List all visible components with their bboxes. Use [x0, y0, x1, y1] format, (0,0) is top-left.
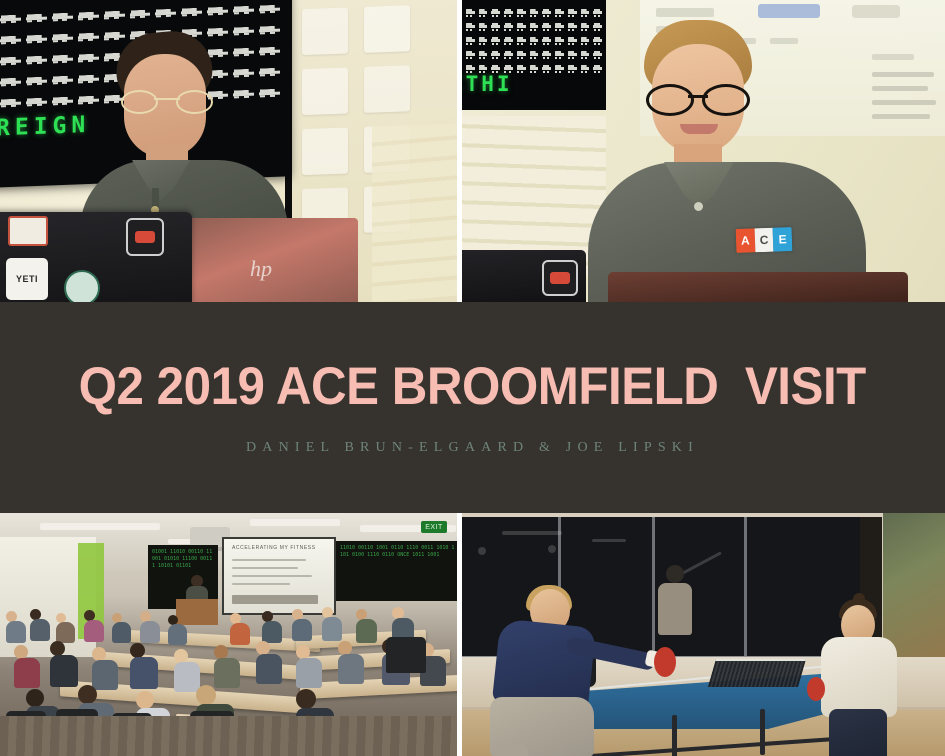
invader-sprite [466, 8, 475, 19]
invader-sprite [0, 56, 21, 68]
sticker-yeti: YETI [6, 258, 48, 300]
sticker-code-icon [542, 260, 578, 296]
invader-sprite [479, 22, 488, 33]
attendee [112, 613, 131, 643]
collar [132, 160, 190, 200]
photo-top-left: REIGN A C E [0, 0, 457, 302]
player-background [813, 605, 905, 756]
attendee [92, 647, 118, 690]
invader-sprite [530, 36, 539, 47]
invader-sprite [181, 7, 202, 19]
mouth [680, 124, 718, 134]
dashboard-filter[interactable] [852, 5, 900, 18]
chair [386, 637, 426, 673]
window-mullion [744, 517, 747, 657]
app-icon [302, 67, 348, 115]
invader-sprite [491, 22, 500, 33]
invader-sprite [466, 22, 475, 33]
invader-sprite [52, 33, 73, 45]
dashboard-row [872, 86, 928, 91]
laptop-hp: hp [178, 218, 358, 302]
attendee [230, 613, 250, 645]
invader-sprite [593, 8, 602, 19]
led-board-right: 11010 00110 1001 0110 1110 0011 1010 110… [336, 541, 457, 601]
background-person [658, 565, 692, 637]
window-reflection [592, 539, 626, 542]
invader-sprite [504, 8, 513, 19]
invader-sprite [0, 14, 21, 26]
invader-sprite [78, 11, 99, 23]
attendee [292, 609, 312, 641]
jeans [829, 709, 887, 756]
invader-sprite [491, 50, 500, 61]
led-code-text: 11010 00110 1001 0110 1110 0011 1010 110… [340, 545, 456, 597]
app-icon [302, 7, 348, 55]
invader-sprite [466, 36, 475, 47]
person-portrait-right: A C E [602, 20, 852, 302]
invader-sprite [530, 22, 539, 33]
attendee [130, 643, 158, 689]
slide-line [232, 567, 298, 569]
eyeglasses-icon [121, 90, 213, 110]
ceiling-light-reflection [548, 545, 556, 553]
hp-logo: hp [250, 256, 272, 282]
laptop-right [608, 272, 908, 302]
invader-sprite [593, 50, 602, 61]
invader-sprite [479, 36, 488, 47]
invader-sprite [52, 54, 73, 66]
invader-sprite [0, 35, 21, 47]
invader-sprite [479, 8, 488, 19]
invader-sprite [581, 22, 590, 33]
invader-sprite [504, 22, 513, 33]
attendee [262, 611, 282, 643]
ping-pong-net [708, 659, 806, 687]
attendee [84, 610, 104, 642]
laptop-left [462, 250, 586, 302]
attendee [50, 641, 78, 687]
photo-bottom-left: 01001 11010 00110 11001 01010 11100 0011… [0, 513, 457, 756]
invader-sprite [491, 8, 500, 19]
invader-sprite [542, 36, 551, 47]
attendee [214, 645, 240, 688]
shirt-button [694, 202, 703, 211]
app-icon [364, 65, 410, 113]
attendee [296, 645, 322, 688]
invader-sprite [466, 50, 475, 61]
invader-sprite [504, 36, 513, 47]
attendee [14, 645, 40, 688]
window-mullion [652, 517, 655, 657]
invader-sprite [479, 50, 488, 61]
invader-sprite [530, 50, 539, 61]
app-icon [302, 127, 348, 175]
scene-table-tennis [462, 513, 945, 756]
attendee [30, 609, 50, 641]
slide-line [232, 583, 290, 585]
invader-sprite [0, 98, 21, 110]
invader-sprite [555, 36, 564, 47]
slide-image [232, 595, 318, 604]
invader-sprite [26, 34, 47, 46]
invader-sprite [259, 4, 280, 16]
invader-sprite [568, 22, 577, 33]
ceiling-light [40, 523, 160, 530]
invader-sprite [233, 5, 254, 17]
attendee [356, 609, 377, 643]
photo-row-top: REIGN A C E [0, 0, 945, 302]
window-blinds [372, 120, 457, 302]
invader-sprite [542, 22, 551, 33]
invader-sprite [568, 36, 577, 47]
invader-sprite [555, 22, 564, 33]
torso-white-shirt [821, 637, 897, 717]
projection-screen: ACCELERATING MY FITNESS [222, 537, 336, 615]
slide-title: ACCELERATING MY FITNESS [232, 545, 316, 551]
photo-row-bottom: 01001 11010 00110 11001 01010 11100 0011… [0, 513, 945, 756]
exit-sign: EXIT [421, 521, 447, 533]
invader-sprite [593, 22, 602, 33]
attendee [256, 641, 282, 684]
invader-sprite [52, 75, 73, 87]
window-reflection [502, 531, 562, 535]
ceiling-light-reflection [478, 547, 486, 555]
dashboard-button[interactable] [758, 4, 820, 18]
title-band: Q2 2019 ACE BROOMFIELD VISIT DANIEL BRUN… [0, 302, 945, 513]
dashboard-row [872, 72, 934, 77]
slide-line [232, 575, 312, 577]
sticker-code-icon [126, 218, 164, 256]
table-leg [760, 709, 765, 755]
page-subtitle: DANIEL BRUN-ELGAARD & JOE LIPSKI [246, 440, 699, 456]
scene-portrait-dashboard: ITHI A C E [462, 0, 945, 302]
sticker-teal [64, 270, 100, 302]
poster: REIGN A C E [0, 0, 945, 756]
table-crossbar [590, 736, 850, 756]
dashboard-column-header [872, 54, 914, 60]
ace-logo-letter-e: E [773, 227, 792, 252]
scene-presentation-laptops: REIGN A C E [0, 0, 457, 302]
ping-pong-paddle [654, 647, 676, 677]
screen-text: ITHI [462, 72, 602, 100]
ping-pong-paddle [807, 677, 825, 701]
ace-logo: A C E [736, 227, 793, 253]
invader-sprite [104, 10, 125, 22]
attendee [6, 611, 26, 643]
invader-sprite [568, 50, 577, 61]
player-foreground [486, 589, 616, 756]
invader-sprite [491, 36, 500, 47]
photo-top-right: ITHI A C E [462, 0, 945, 302]
attendee [338, 641, 364, 684]
sticker-shield [8, 216, 48, 246]
invader-sprite [581, 36, 590, 47]
invader-sprite [504, 50, 513, 61]
invader-sprite [530, 8, 539, 19]
ace-logo-letter-a: A [736, 228, 755, 253]
laptop-stickered: YETI [0, 212, 192, 302]
space-invaders-screen: ITHI [462, 0, 606, 110]
invader-sprite [542, 50, 551, 61]
ceiling-light [250, 519, 340, 526]
invader-sprite [26, 76, 47, 88]
invader-sprite [568, 8, 577, 19]
invader-sprite [542, 8, 551, 19]
invader-sprite [155, 8, 176, 20]
eyeglasses-icon [646, 84, 750, 110]
invader-sprite [52, 96, 73, 108]
attendee [322, 607, 342, 641]
carpet-floor [0, 716, 457, 756]
attendee [168, 615, 187, 645]
photo-bottom-right [462, 513, 945, 756]
invader-sprite [581, 8, 590, 19]
invader-sprite-grid [462, 4, 606, 76]
invader-sprite [555, 8, 564, 19]
page-title: Q2 2019 ACE BROOMFIELD VISIT [79, 360, 866, 413]
invader-sprite [130, 9, 151, 21]
invader-sprite [52, 12, 73, 24]
slide-line [232, 559, 306, 561]
invader-sprite [26, 55, 47, 67]
invader-sprite [517, 50, 526, 61]
invader-sprite [517, 8, 526, 19]
invader-sprite [581, 50, 590, 61]
ace-logo-letter-c: C [754, 228, 773, 253]
scene-training-room: 01001 11010 00110 11001 01010 11100 0011… [0, 513, 457, 756]
app-icon [364, 5, 410, 53]
attendee [56, 613, 75, 643]
dashboard-label [656, 8, 714, 17]
invader-sprite [0, 77, 21, 89]
invader-sprite [207, 6, 228, 18]
invader-sprite [555, 50, 564, 61]
invader-sprite [593, 36, 602, 47]
invader-sprite [517, 36, 526, 47]
dashboard-row [872, 114, 930, 119]
invader-sprite [26, 97, 47, 109]
invader-sprite [517, 22, 526, 33]
attendee [140, 611, 160, 643]
dashboard-row [872, 100, 936, 105]
invader-sprite [26, 13, 47, 25]
